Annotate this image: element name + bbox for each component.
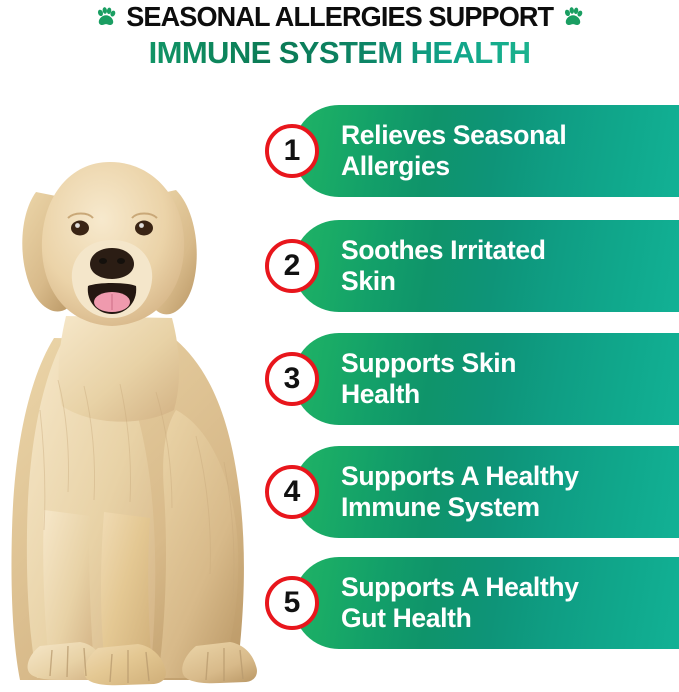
benefit-banner: Supports Skin Health (293, 333, 679, 425)
benefit-banner: Supports A Healthy Immune System (293, 446, 679, 538)
benefit-banner: Soothes Irritated Skin (293, 220, 679, 312)
paw-print-icon (562, 6, 584, 28)
benefit-number-badge: 2 (265, 239, 319, 293)
benefit-banner: Supports A Healthy Gut Health (293, 557, 679, 649)
page-title: SEASONAL ALLERGIES SUPPORT (126, 2, 553, 32)
page-subtitle: IMMUNE SYSTEM HEALTH (0, 34, 679, 72)
benefit-number-badge: 5 (265, 576, 319, 630)
benefit-text: Soothes Irritated Skin (341, 235, 546, 297)
benefit-text: Supports Skin Health (341, 348, 516, 410)
benefit-banner: Relieves Seasonal Allergies (293, 105, 679, 197)
benefit-text: Supports A Healthy Immune System (341, 461, 579, 523)
header: SEASONAL ALLERGIES SUPPORT IMMUNE SYSTEM… (0, 0, 679, 78)
dog-photo (0, 80, 280, 692)
title-row: SEASONAL ALLERGIES SUPPORT (0, 2, 679, 32)
benefit-number-badge: 1 (265, 124, 319, 178)
benefit-text: Relieves Seasonal Allergies (341, 120, 566, 182)
product-benefits-infographic: SEASONAL ALLERGIES SUPPORT IMMUNE SYSTEM… (0, 0, 679, 692)
paw-print-icon (95, 6, 117, 28)
benefit-number-badge: 4 (265, 465, 319, 519)
benefit-number-badge: 3 (265, 352, 319, 406)
benefit-text: Supports A Healthy Gut Health (341, 572, 579, 634)
